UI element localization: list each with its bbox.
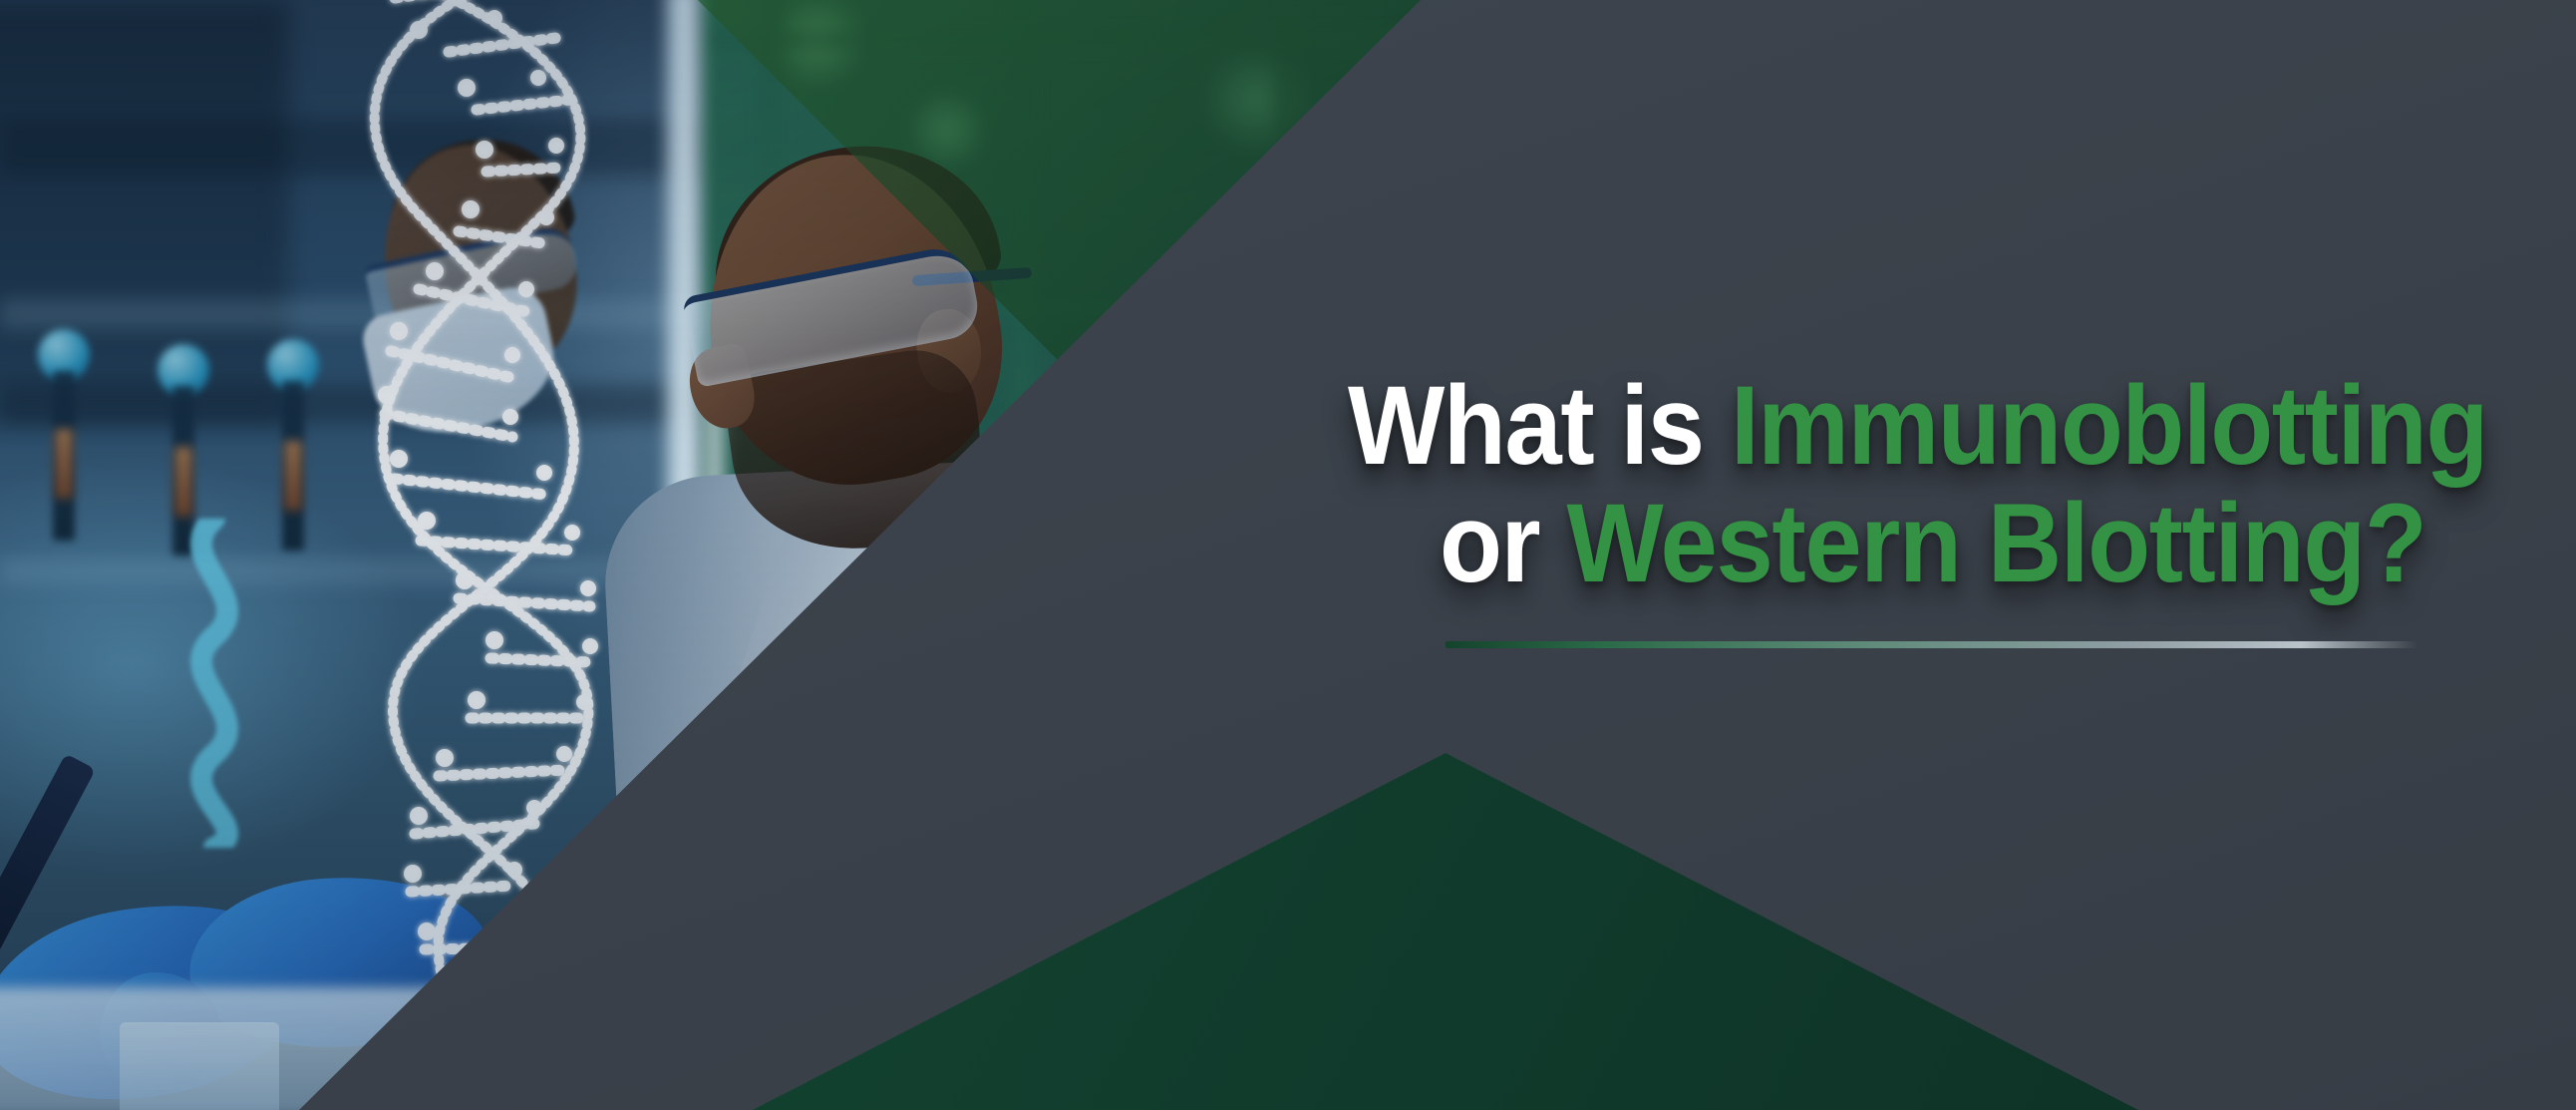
- title-line-2-plain: or: [1440, 481, 1567, 605]
- title-underline: [1446, 641, 2417, 648]
- title-line-1-accent: Immunoblotting: [1731, 363, 2487, 488]
- title-line-2: or Western Blotting?: [1440, 485, 2437, 602]
- title-line-1: What is Immunoblotting: [1348, 367, 2430, 485]
- article-hero-banner: What is Immunoblotting or Western Blotti…: [0, 0, 2576, 1110]
- title-line-1-plain: What is: [1348, 363, 1731, 488]
- title-line-2-accent: Western Blotting?: [1567, 481, 2426, 605]
- page-title: What is Immunoblotting or Western Blotti…: [1348, 367, 2524, 602]
